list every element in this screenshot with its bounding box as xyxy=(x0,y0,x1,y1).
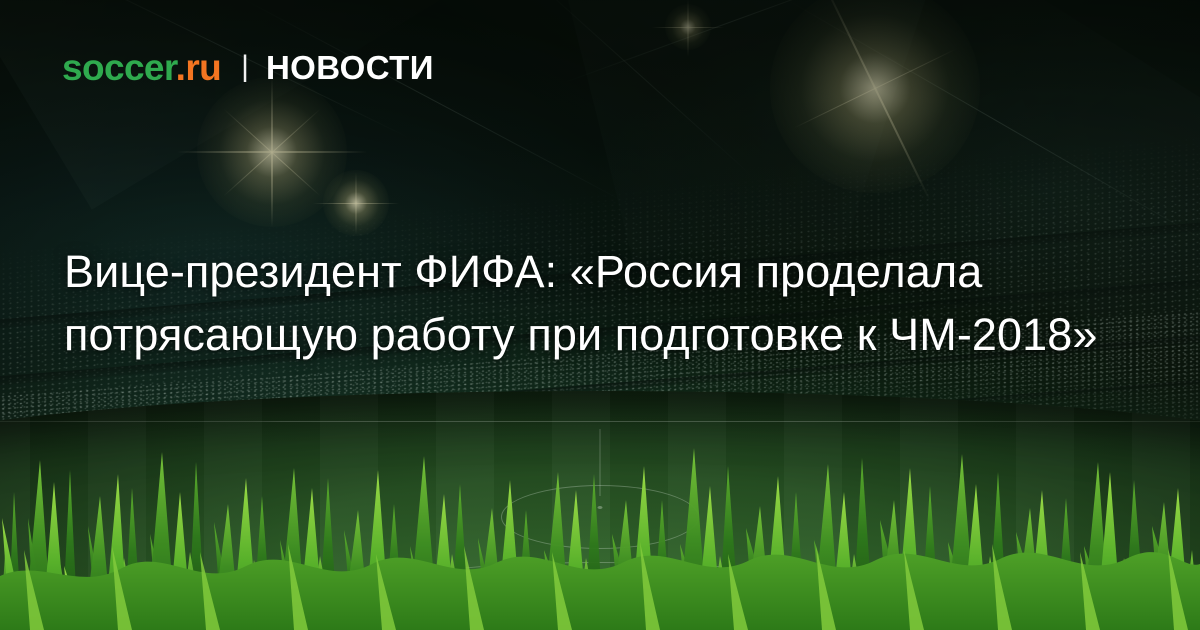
share-card: soccer.ru | НОВОСТИ Вице-президент ФИФА:… xyxy=(0,0,1200,630)
card-content: soccer.ru | НОВОСТИ Вице-президент ФИФА:… xyxy=(0,0,1200,630)
brand-separator: | xyxy=(241,52,249,82)
brand-bar: soccer.ru | НОВОСТИ xyxy=(62,44,1138,90)
headline-area: Вице-президент ФИФА: «Россия проделала п… xyxy=(62,96,1138,586)
logo-primary-text: soccer xyxy=(62,47,176,88)
logo-suffix-text: .ru xyxy=(176,47,221,88)
page-title: Вице-президент ФИФА: «Россия проделала п… xyxy=(64,240,1138,366)
soccer-ru-logo[interactable]: soccer.ru xyxy=(62,49,221,86)
section-label-novosti: НОВОСТИ xyxy=(266,51,434,84)
